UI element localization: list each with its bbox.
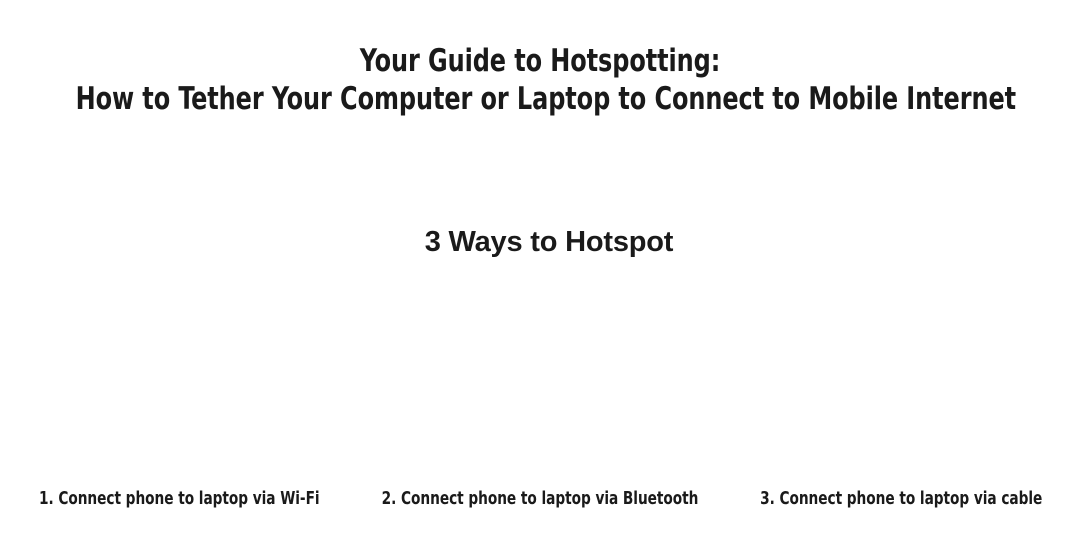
method-caption-bluetooth: 2. Connect phone to laptop via Bluetooth (358, 488, 722, 510)
infographic-page: Your Guide to Hotspotting: How to Tether… (0, 0, 1080, 552)
illustration-band (0, 272, 1080, 478)
illustration-slot-bluetooth (360, 272, 720, 478)
method-caption-bluetooth-text: 2. Connect phone to laptop via Bluetooth (382, 488, 699, 510)
method-caption-cable-text: 3. Connect phone to laptop via cable (760, 488, 1042, 510)
page-title-line-2: How to Tether Your Computer or Laptop to… (76, 80, 1005, 118)
illustration-slot-cable (720, 272, 1080, 478)
illustration-slot-wifi (0, 272, 360, 478)
section-heading: 3 Ways to Hotspot (0, 224, 1080, 260)
page-title: Your Guide to Hotspotting: How to Tether… (76, 42, 1005, 118)
method-caption-row: 1. Connect phone to laptop via Wi-Fi 2. … (0, 488, 1080, 510)
page-title-line-1: Your Guide to Hotspotting: (76, 42, 1005, 80)
method-caption-cable: 3. Connect phone to laptop via cable (722, 488, 1080, 510)
method-caption-wifi-text: 1. Connect phone to laptop via Wi-Fi (39, 488, 320, 510)
method-caption-wifi: 1. Connect phone to laptop via Wi-Fi (0, 488, 358, 510)
